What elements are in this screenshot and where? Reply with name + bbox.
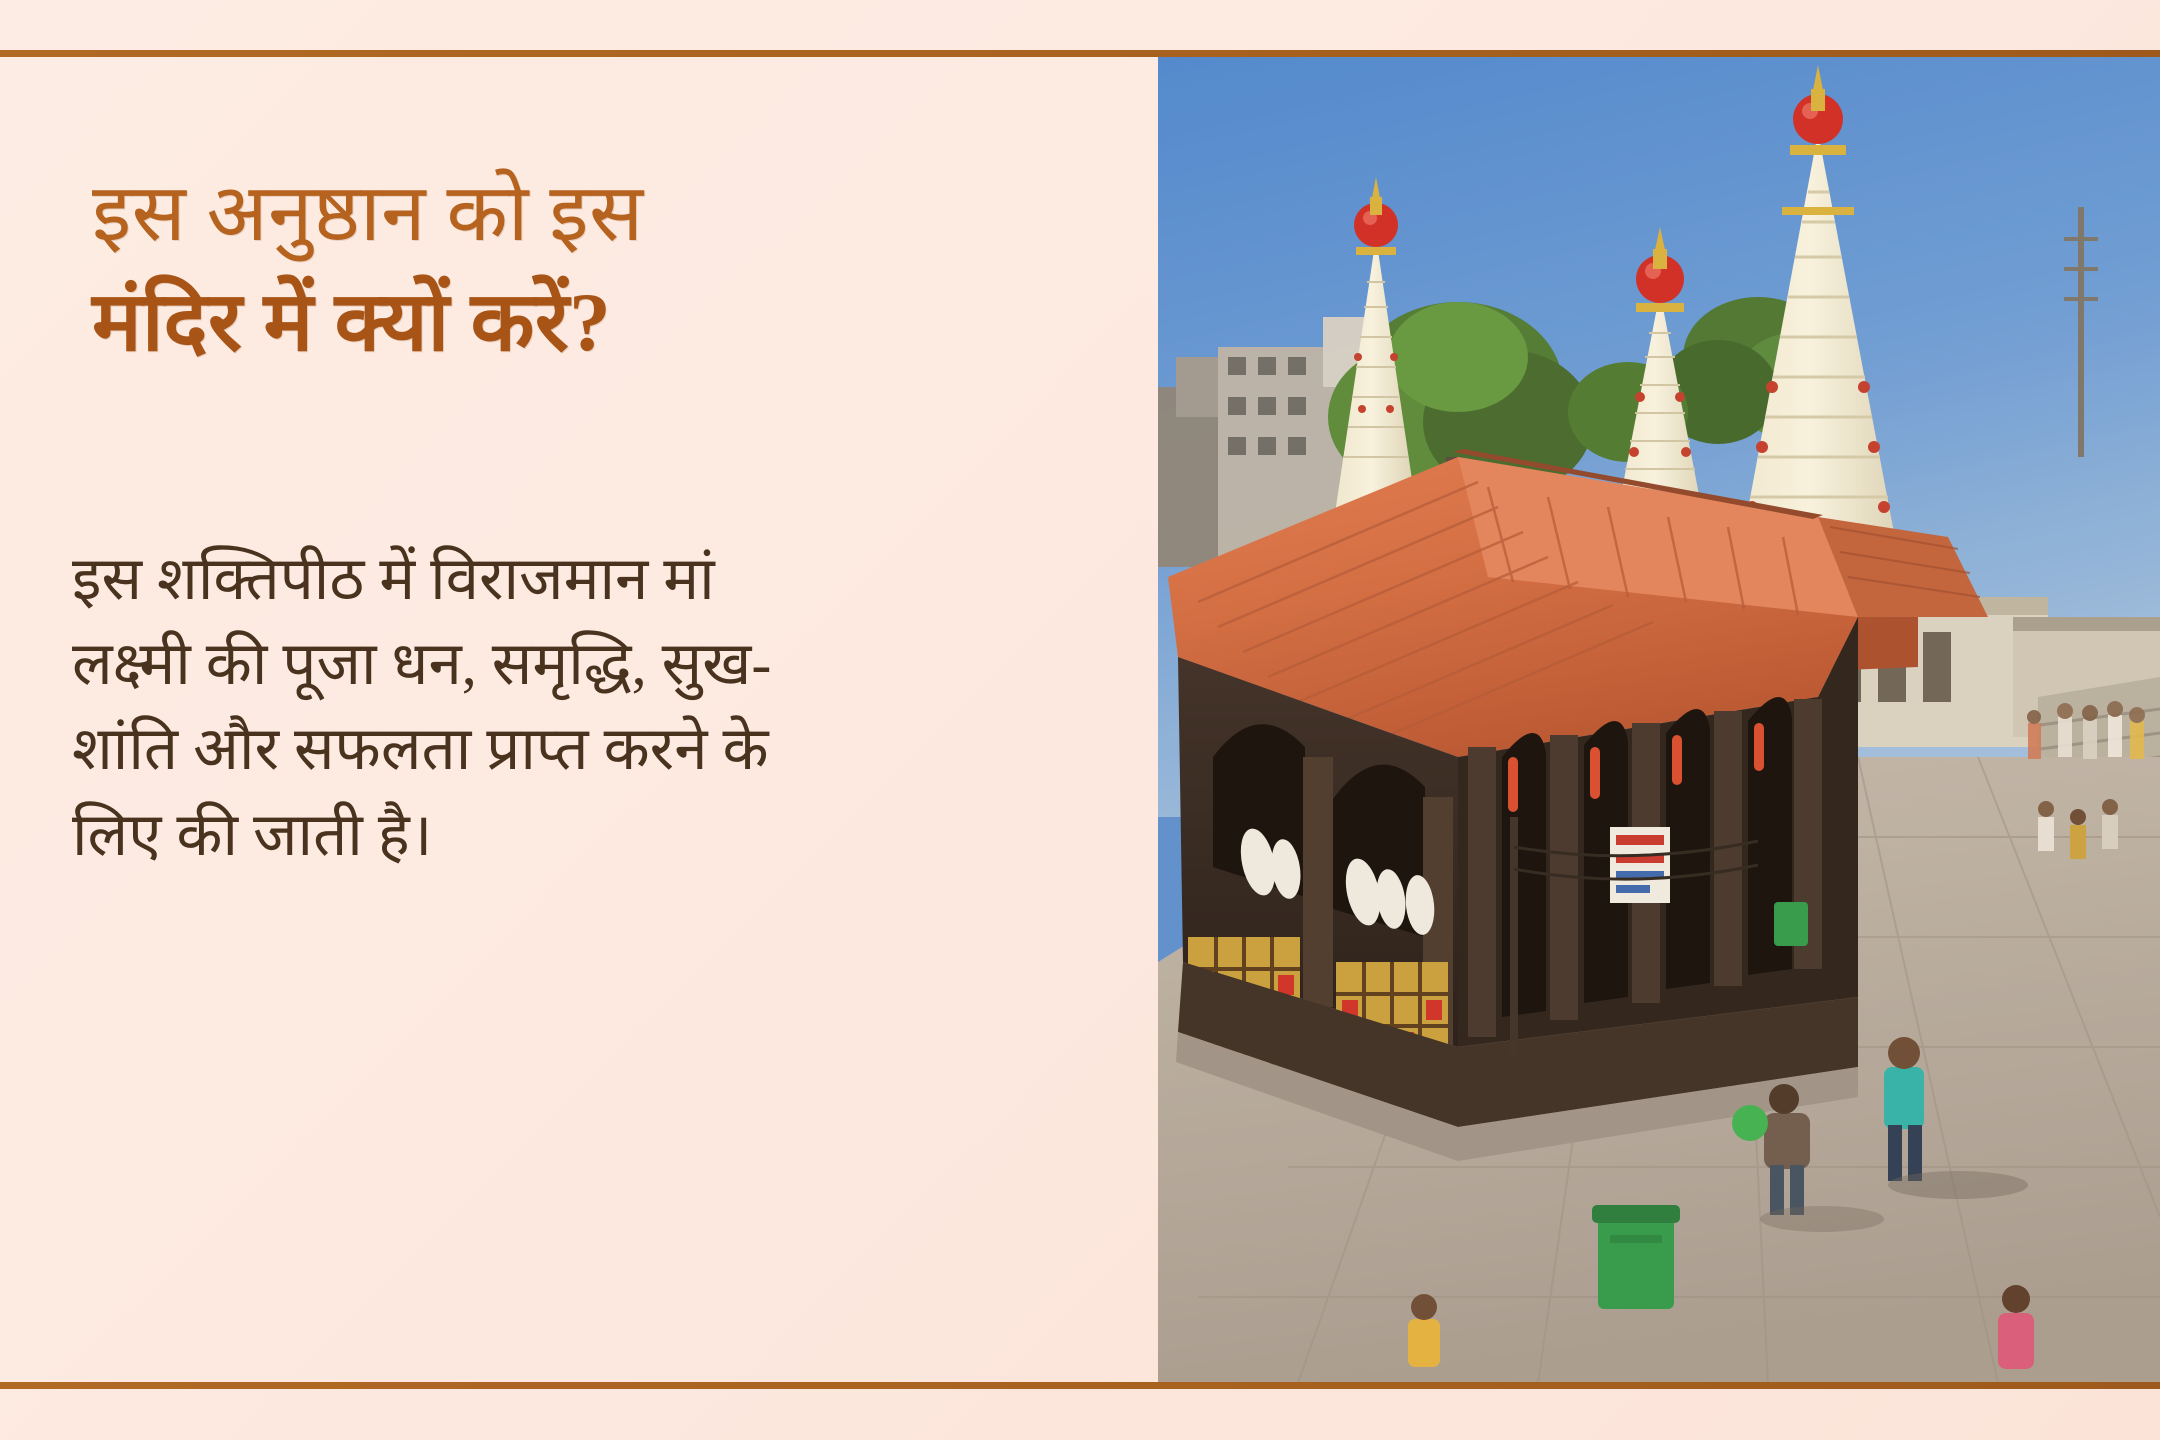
body-line-1: इस शक्तिपीठ में विराजमान मां: [72, 537, 1012, 622]
body-line-2: लक्ष्मी की पूजा धन, समृद्धि, सुख-: [72, 622, 1012, 707]
body-line-3: शांति और सफलता प्राप्त करने के: [72, 707, 1012, 792]
promo-card: इस अनुष्ठान को इस मंदिर में क्यों करें? …: [0, 0, 2160, 1440]
body-line-4: लिए की जाती है।: [72, 793, 1012, 878]
body-paragraph: इस शक्तिपीठ में विराजमान मां लक्ष्मी की …: [72, 537, 1012, 878]
text-column: इस अनुष्ठान को इस मंदिर में क्यों करें? …: [0, 57, 1158, 1382]
temple-photo-illustration: [1158, 57, 2160, 1383]
temple-photograph: [1158, 57, 2160, 1383]
page-title: इस अनुष्ठान को इस मंदिर में क्यों करें?: [92, 162, 1052, 377]
heading-line-1: इस अनुष्ठान को इस: [92, 162, 1052, 268]
heading-line-2: मंदिर में क्यों करें?: [92, 268, 1052, 378]
top-divider: [0, 50, 2160, 57]
bottom-divider: [0, 1382, 2160, 1389]
